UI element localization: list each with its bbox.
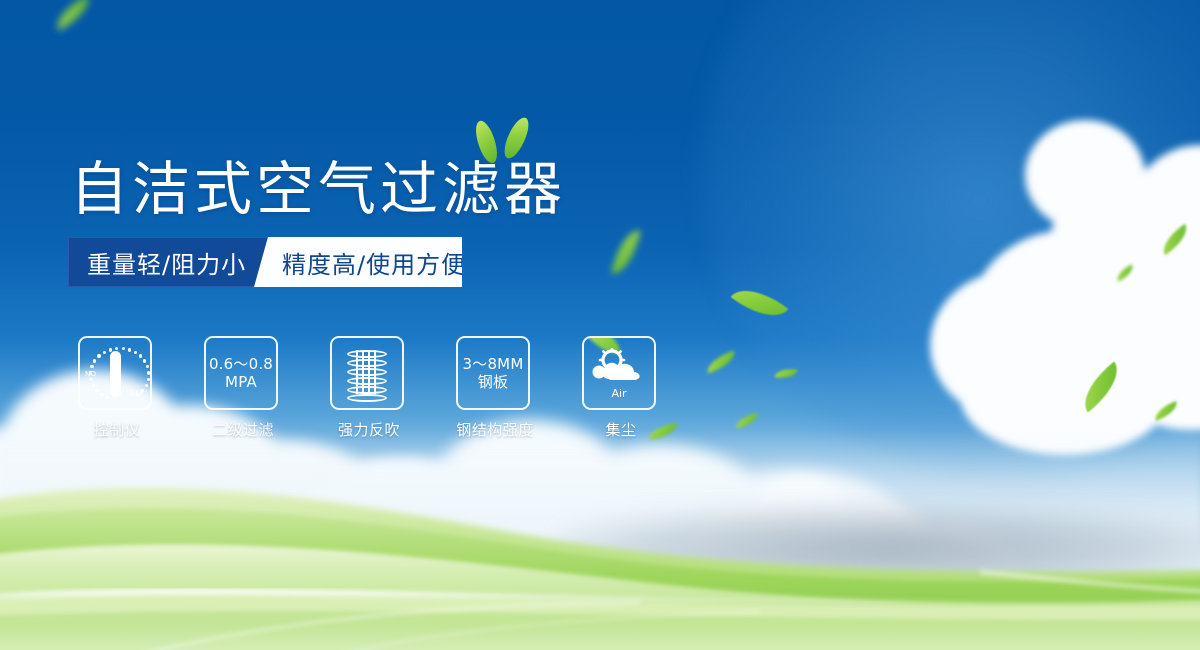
gauge-needle	[110, 351, 121, 397]
pressure-value: 0.6〜0.8 MPA	[209, 355, 273, 391]
air-label: Air	[584, 387, 654, 400]
tagline-bar: 重量轻/阻力小 精度高/使用方便	[68, 237, 462, 287]
feature-label-controller: 控制仪	[78, 419, 156, 440]
tagline-left-text: 重量轻/阻力小	[87, 245, 246, 280]
page-title: 自洁式空气过滤器	[70, 142, 566, 226]
tagline-left-panel: 重量轻/阻力小	[68, 237, 268, 287]
feature-label-filtration: 二级过滤	[204, 419, 282, 440]
feature-item-backblow[interactable]: 强力反吹	[330, 336, 408, 440]
feature-label-backblow: 强力反吹	[330, 419, 408, 440]
gauge-label-off: OFF	[130, 389, 144, 397]
feature-item-steel[interactable]: 3〜8MM 钢板 钢结构强度	[456, 336, 534, 440]
cloud-sun-glyph	[590, 348, 650, 390]
cloud-air-icon: Air	[582, 336, 656, 410]
gauge-label-no: NO	[85, 370, 96, 378]
feature-item-dustcollect[interactable]: Air 集尘	[582, 336, 660, 440]
feature-item-filtration[interactable]: 0.6〜0.8 MPA 二级过滤	[204, 336, 282, 440]
tagline-right-text: 精度高/使用方便	[282, 245, 466, 280]
bottom-fade	[0, 624, 1200, 650]
pressure-text-icon: 0.6〜0.8 MPA	[204, 336, 278, 410]
hero-banner: 自洁式空气过滤器 重量轻/阻力小 精度高/使用方便	[0, 0, 1200, 650]
steel-plate-text-icon: 3〜8MM 钢板	[456, 336, 530, 410]
feature-label-steel: 钢结构强度	[438, 419, 552, 440]
tagline-right-panel: 精度高/使用方便	[254, 237, 462, 287]
feature-icon-row: NO OFF 控制仪 0.6〜0.8 MPA 二级过滤	[78, 336, 698, 446]
grass-shapes	[0, 0, 1200, 650]
grass-field	[0, 0, 1200, 650]
steel-thickness-value: 3〜8MM 钢板	[463, 355, 524, 391]
feature-label-dustcollect: 集尘	[582, 419, 660, 440]
feature-item-controller[interactable]: NO OFF 控制仪	[78, 336, 156, 440]
coil-spring-icon	[330, 336, 404, 410]
gauge-dial-icon: NO OFF	[78, 336, 152, 410]
